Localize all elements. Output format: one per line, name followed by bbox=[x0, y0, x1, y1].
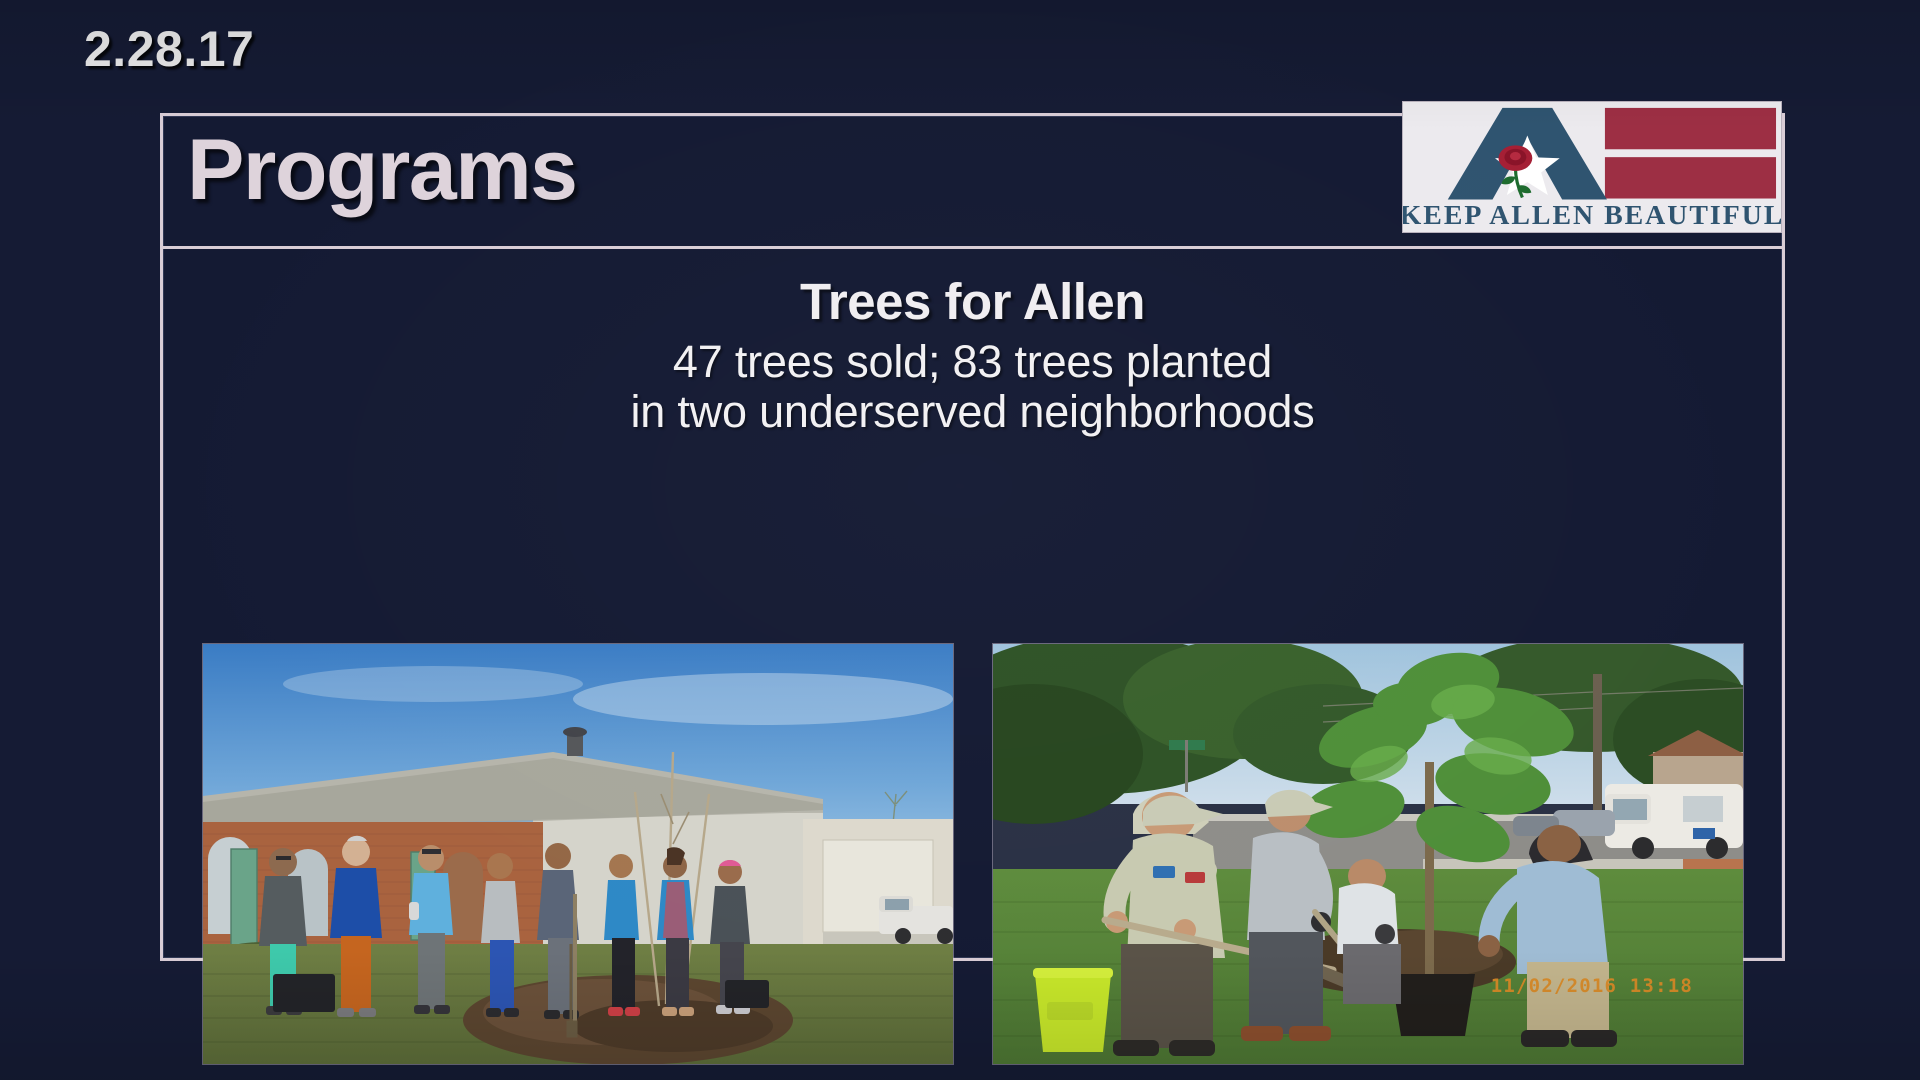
photo-tree-planting-crew-art: 11/02/2016 13:18 bbox=[993, 644, 1743, 1064]
program-title: Trees for Allen bbox=[163, 272, 1782, 331]
keep-allen-beautiful-logo: KEEP ALLEN BEAUTIFUL bbox=[1402, 101, 1782, 233]
photo-row: 11/02/2016 13:18 bbox=[163, 644, 1782, 1064]
logo-artwork: KEEP ALLEN BEAUTIFUL bbox=[1403, 102, 1781, 232]
svg-text:11/02/2016 13:18: 11/02/2016 13:18 bbox=[1490, 975, 1692, 997]
photo-tree-planting-crew: 11/02/2016 13:18 bbox=[993, 644, 1743, 1064]
panel-body: Trees for Allen 47 trees sold; 83 trees … bbox=[163, 249, 1782, 958]
page-title: Programs bbox=[187, 121, 577, 220]
slide-root: 2.28.17 Programs bbox=[0, 0, 1920, 1080]
program-line-2: in two underserved neighborhoods bbox=[163, 387, 1782, 437]
program-line-1: 47 trees sold; 83 trees planted bbox=[163, 337, 1782, 387]
svg-text:KEEP ALLEN BEAUTIFUL: KEEP ALLEN BEAUTIFUL bbox=[1403, 199, 1781, 230]
panel-header: Programs bbox=[163, 116, 1782, 249]
photo-volunteer-group bbox=[203, 644, 953, 1064]
slide-panel: Programs bbox=[160, 113, 1785, 961]
program-description: 47 trees sold; 83 trees planted in two u… bbox=[163, 337, 1782, 438]
photo-volunteer-group-art bbox=[203, 644, 953, 1064]
date-stamp: 2.28.17 bbox=[84, 24, 254, 74]
